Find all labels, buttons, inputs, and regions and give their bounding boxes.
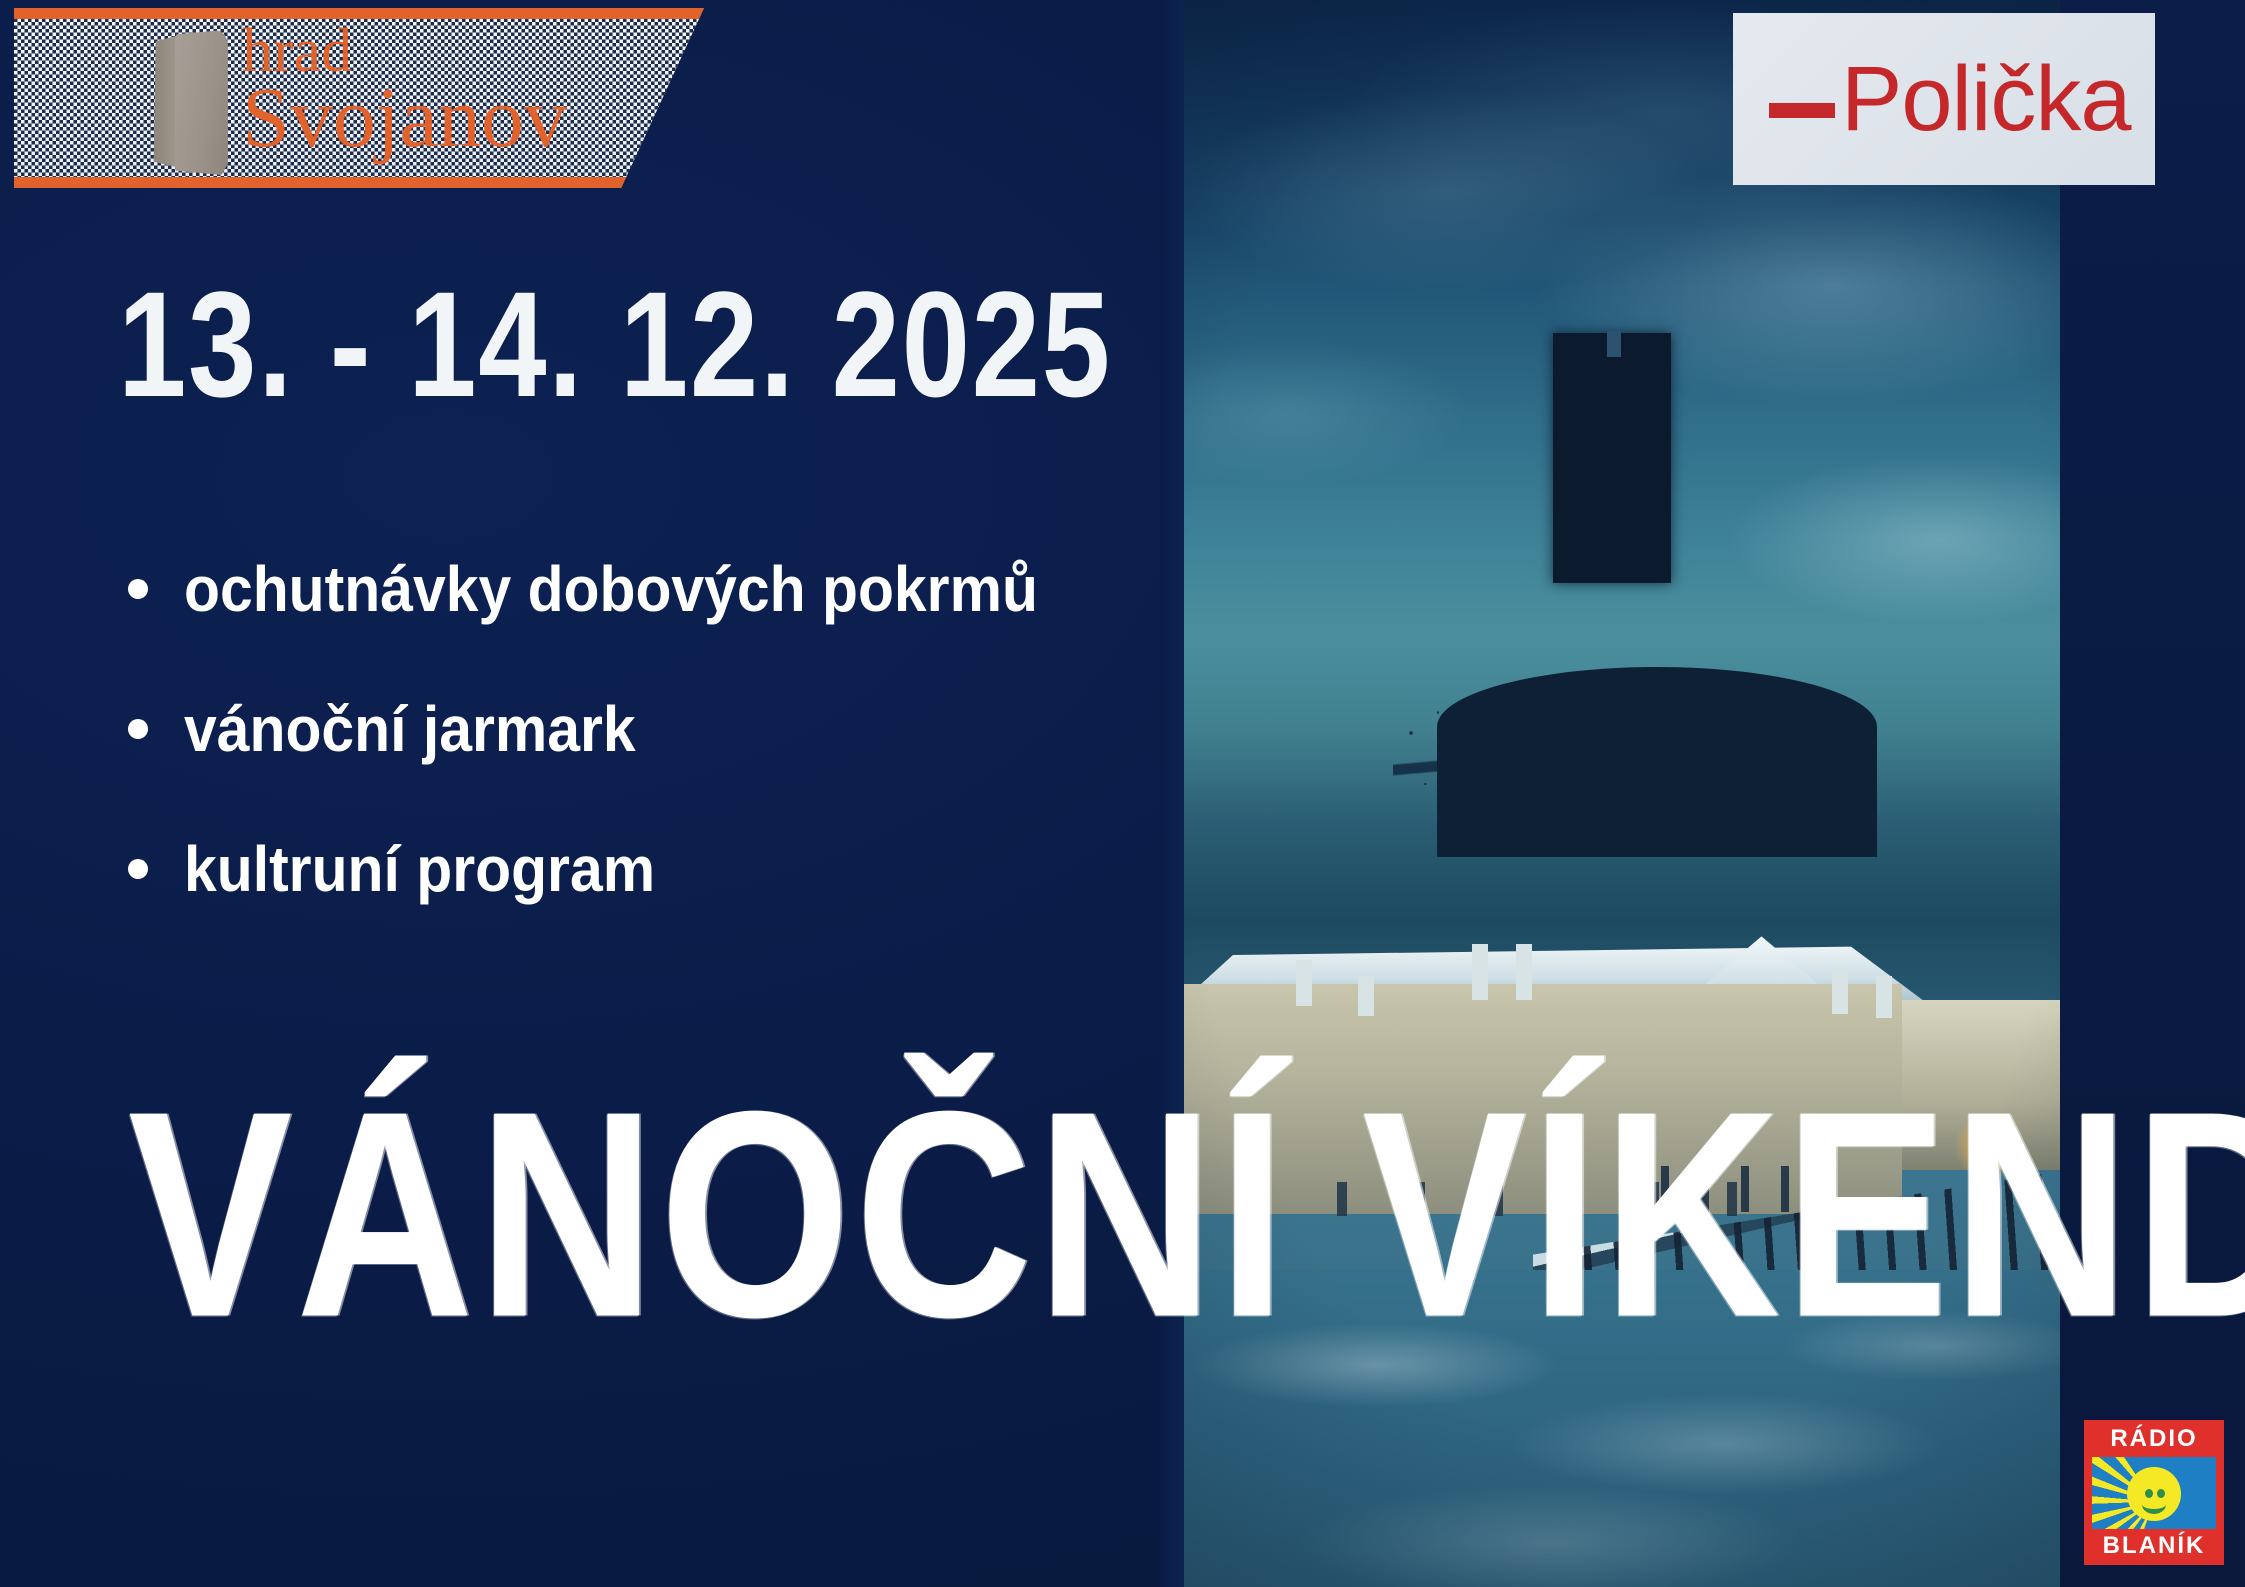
castle-tower-icon xyxy=(150,30,228,167)
hrad-svojanov-wordmark: hrad Svojanov xyxy=(242,22,567,159)
event-highlights-list: ochutnávky dobových pokrmů vánoční jarma… xyxy=(128,552,1112,972)
bullet-label: vánoční jarmark xyxy=(184,692,636,766)
list-item: vánoční jarmark xyxy=(128,692,1112,766)
radio-blanik-bottom-label: BLANÍK xyxy=(2103,1534,2206,1558)
bullet-label: kultruní program xyxy=(184,832,655,906)
bullet-dot-icon xyxy=(128,859,148,879)
policka-label: Polička xyxy=(1841,58,2131,141)
event-date: 13. - 14. 12. 2025 xyxy=(118,258,1112,431)
bullet-label: ochutnávky dobových pokrmů xyxy=(184,552,1038,626)
title-word-vanocni: VÁNOČNÍ xyxy=(128,1068,1290,1361)
sun-disc xyxy=(2127,1467,2181,1521)
smiling-sun-icon xyxy=(2092,1457,2216,1529)
bullet-dot-icon xyxy=(128,579,148,599)
radio-blanik-logo[interactable]: RÁDIO BLANÍK xyxy=(2084,1420,2224,1565)
page-title: VÁNOČNÍ VÍKEND xyxy=(128,1068,2245,1361)
sun-smile xyxy=(2142,1495,2166,1514)
poster-canvas: hrad Svojanov Polička 13. - 14. 12. 2025… xyxy=(0,0,2245,1587)
orange-bar-top xyxy=(14,8,704,19)
policka-logo[interactable]: Polička xyxy=(1733,13,2155,185)
list-item: kultruní program xyxy=(128,832,1112,906)
orange-bar-bottom xyxy=(14,177,704,188)
title-word-vikend: VÍKEND xyxy=(1362,1068,2245,1361)
hrad-svojanov-logo[interactable]: hrad Svojanov xyxy=(14,8,704,188)
policka-underscore-icon xyxy=(1769,103,1835,118)
tower-face-left xyxy=(150,36,176,167)
title-space xyxy=(1290,1050,1362,1378)
policka-wordmark: Polička xyxy=(1769,58,2131,141)
svojanov-label: Svojanov xyxy=(242,77,567,159)
bullet-dot-icon xyxy=(128,719,148,739)
list-item: ochutnávky dobových pokrmů xyxy=(128,552,1112,626)
tower-face-right xyxy=(175,30,228,175)
radio-blanik-top-label: RÁDIO xyxy=(2110,1427,2197,1451)
